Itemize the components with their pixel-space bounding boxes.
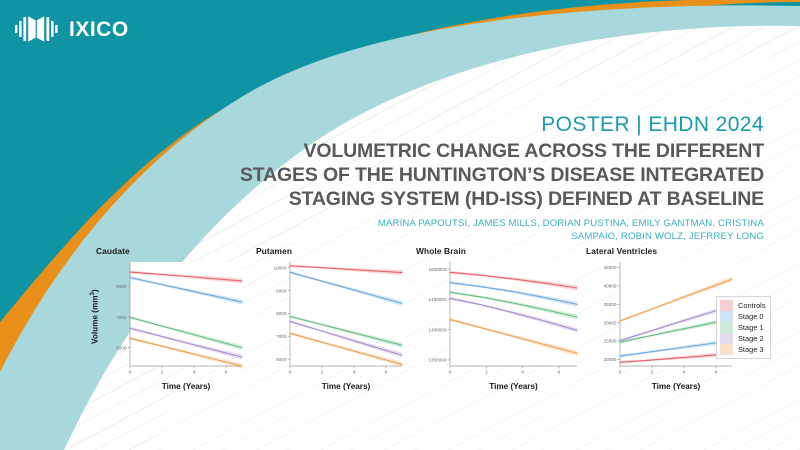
svg-text:10000: 10000	[274, 265, 287, 270]
svg-text:6: 6	[385, 370, 388, 376]
svg-text:0: 0	[129, 370, 132, 376]
svg-text:6000: 6000	[116, 345, 127, 350]
svg-text:0: 0	[619, 370, 622, 376]
svg-text:8000: 8000	[276, 311, 287, 316]
poster-header: POSTER | EHDN 2024 VOLUMETRIC CHANGE ACR…	[164, 113, 764, 244]
legend-label: Stage 1	[738, 322, 763, 333]
brand-logo: IXICO	[14, 14, 129, 44]
svg-text:7000: 7000	[116, 315, 127, 320]
svg-text:8000: 8000	[116, 284, 127, 289]
legend-label: Stage 2	[738, 333, 763, 344]
x-axis-label: Time (Years)	[489, 382, 538, 391]
waveform-icon	[14, 14, 62, 44]
svg-text:7000: 7000	[276, 334, 287, 339]
svg-text:0: 0	[289, 370, 292, 376]
legend-item: Stage 3	[720, 344, 766, 355]
svg-text:1400000: 1400000	[429, 327, 447, 332]
chart-plot: 6000700080009000100000246	[256, 258, 406, 380]
legend-swatch-icon	[720, 333, 733, 344]
title-line-1: VOLUMETRIC CHANGE ACROSS THE DIFFERENT	[164, 140, 764, 164]
legend-swatch-icon	[720, 344, 733, 355]
svg-text:4: 4	[193, 370, 196, 376]
poster-slide: IXICO POSTER | EHDN 2024 VOLUMETRIC CHAN…	[0, 0, 800, 450]
chart-panel-putamen: Putamen6000700080009000100000246Time (Ye…	[256, 240, 406, 415]
svg-text:1350000: 1350000	[429, 358, 447, 363]
svg-text:2: 2	[651, 370, 654, 376]
chart-plot: 6000700080000246	[96, 258, 246, 380]
author-line-2: SAMPAIO, ROBIN WOLZ, JEFRREY LONG	[164, 231, 764, 244]
chart-panel-lateral-ventricles: Lateral Ventricles2000025000300003500040…	[586, 240, 736, 415]
title-line-2: STAGES OF THE HUNTINGTON’S DISEASE INTEG…	[164, 164, 764, 188]
svg-text:6: 6	[558, 370, 561, 376]
chart-plot: 2000025000300003500040000450000246	[586, 258, 736, 380]
legend-swatch-icon	[720, 300, 733, 311]
svg-text:2: 2	[321, 370, 324, 376]
chart-title: Whole Brain	[416, 246, 466, 256]
chart-title: Putamen	[256, 246, 292, 256]
svg-text:45000: 45000	[604, 265, 617, 270]
legend-swatch-icon	[720, 322, 733, 333]
svg-text:2: 2	[161, 370, 164, 376]
y-axis-label: Volume (mm3)	[90, 289, 100, 344]
svg-text:35000: 35000	[604, 302, 617, 307]
x-axis-label: Time (Years)	[162, 382, 211, 391]
svg-text:0: 0	[449, 370, 452, 376]
x-axis-label: Time (Years)	[652, 382, 701, 391]
chart-row: Caudate6000700080000246Time (Years)Volum…	[74, 240, 800, 415]
author-line-1: MARINA PAPOUTSI, JAMES MILLS, DORIAN PUS…	[164, 218, 764, 231]
legend-label: Stage 3	[738, 344, 763, 355]
svg-text:4: 4	[683, 370, 686, 376]
svg-text:6000: 6000	[276, 357, 287, 362]
chart-title: Caudate	[96, 246, 130, 256]
svg-text:20000: 20000	[604, 357, 617, 362]
page-title: VOLUMETRIC CHANGE ACROSS THE DIFFERENT S…	[164, 140, 764, 212]
legend-item: Stage 1	[720, 322, 766, 333]
svg-text:6: 6	[715, 370, 718, 376]
chart-plot: 13500001400000145000015000000246	[416, 258, 581, 380]
chart-title: Lateral Ventricles	[586, 246, 657, 256]
x-axis-label: Time (Years)	[322, 382, 371, 391]
svg-text:25000: 25000	[604, 339, 617, 344]
svg-text:6: 6	[225, 370, 228, 376]
svg-text:4: 4	[353, 370, 356, 376]
chart-panel-whole-brain: Whole Brain13500001400000145000015000000…	[416, 240, 581, 415]
legend-item: Stage 2	[720, 333, 766, 344]
legend-item: Controls	[720, 300, 766, 311]
svg-text:1450000: 1450000	[429, 297, 447, 302]
legend-label: Controls	[738, 300, 766, 311]
chart-legend: ControlsStage 0Stage 1Stage 2Stage 3	[716, 296, 771, 359]
svg-text:1500000: 1500000	[429, 267, 447, 272]
svg-text:9000: 9000	[276, 288, 287, 293]
legend-item: Stage 0	[720, 311, 766, 322]
author-list: MARINA PAPOUTSI, JAMES MILLS, DORIAN PUS…	[164, 218, 764, 244]
poster-eyebrow: POSTER | EHDN 2024	[164, 113, 764, 136]
legend-swatch-icon	[720, 311, 733, 322]
svg-text:40000: 40000	[604, 284, 617, 289]
brand-name: IXICO	[69, 19, 129, 40]
chart-panel-caudate: Caudate6000700080000246Time (Years)Volum…	[96, 240, 246, 415]
title-line-3: STAGING SYSTEM (HD-ISS) DEFINED AT BASEL…	[164, 188, 764, 212]
svg-text:2: 2	[485, 370, 488, 376]
svg-text:4: 4	[521, 370, 524, 376]
svg-text:30000: 30000	[604, 320, 617, 325]
legend-label: Stage 0	[738, 311, 763, 322]
